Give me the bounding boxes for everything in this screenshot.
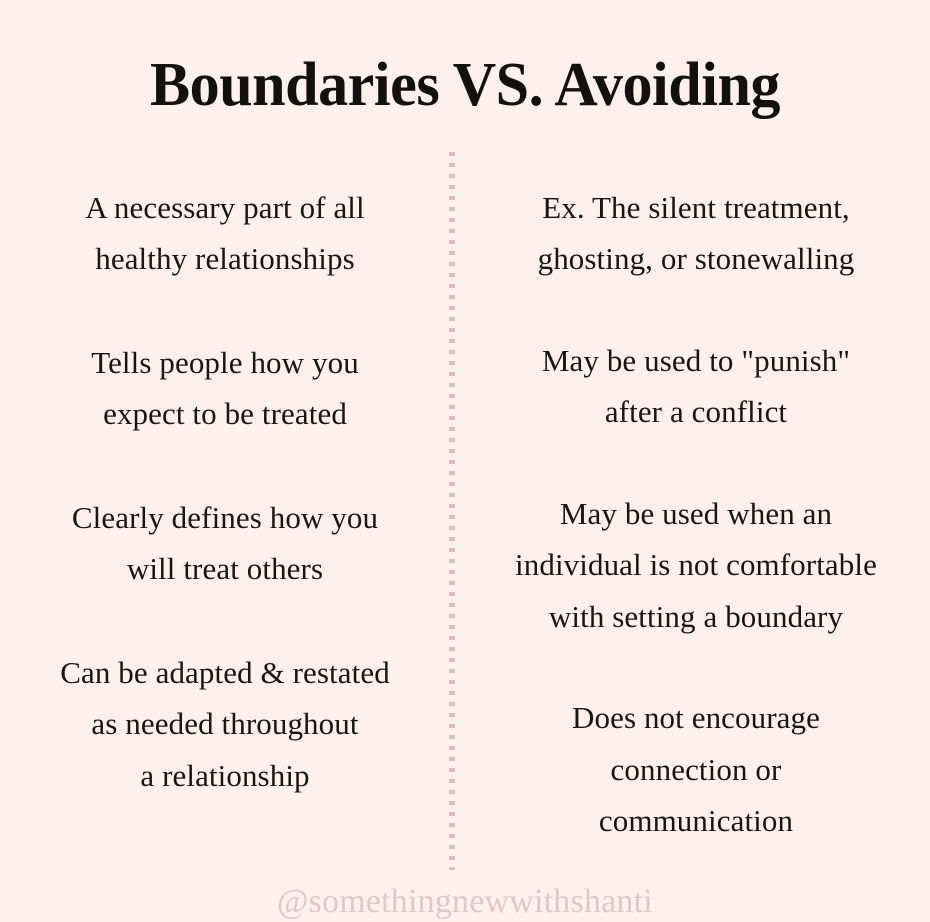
page-title: Boundaries VS. Avoiding (14, 54, 916, 116)
item-line: May be used when an (466, 488, 926, 539)
item-line: Can be adapted & restated (6, 647, 444, 698)
comparison-columns: A necessary part of all healthy relation… (0, 160, 930, 870)
item-line: connection or (466, 744, 926, 795)
item-line: A necessary part of all (6, 182, 444, 233)
item-line: May be used to "punish" (466, 335, 926, 386)
item-line: communication (466, 795, 926, 846)
list-item: Clearly defines how you will treat other… (6, 492, 444, 595)
item-line: as needed throughout (6, 698, 444, 749)
poster-canvas: Boundaries VS. Avoiding A necessary part… (0, 0, 930, 922)
item-line: Ex. The silent treatment, (466, 182, 926, 233)
list-item: A necessary part of all healthy relation… (6, 182, 444, 285)
watermark-handle: @somethingnewwithshanti (0, 883, 930, 920)
item-line: healthy relationships (6, 233, 444, 284)
list-item: Ex. The silent treatment, ghosting, or s… (466, 182, 926, 285)
right-column-avoiding: Ex. The silent treatment, ghosting, or s… (452, 160, 930, 847)
item-line: ghosting, or stonewalling (466, 233, 926, 284)
item-line: Clearly defines how you (6, 492, 444, 543)
list-item: May be used when an individual is not co… (466, 488, 926, 642)
item-line: Does not encourage (466, 692, 926, 743)
item-line: with setting a boundary (466, 591, 926, 642)
list-item: Does not encourage connection or communi… (466, 692, 926, 846)
item-line: Tells people how you (6, 337, 444, 388)
list-item: May be used to "punish" after a conflict (466, 335, 926, 438)
item-line: individual is not comfortable (466, 539, 926, 590)
item-line: expect to be treated (6, 388, 444, 439)
item-line: after a conflict (466, 386, 926, 437)
left-column-boundaries: A necessary part of all healthy relation… (0, 160, 452, 801)
list-item: Can be adapted & restated as needed thro… (6, 647, 444, 801)
list-item: Tells people how you expect to be treate… (6, 337, 444, 440)
item-line: a relationship (6, 750, 444, 801)
item-line: will treat others (6, 543, 444, 594)
